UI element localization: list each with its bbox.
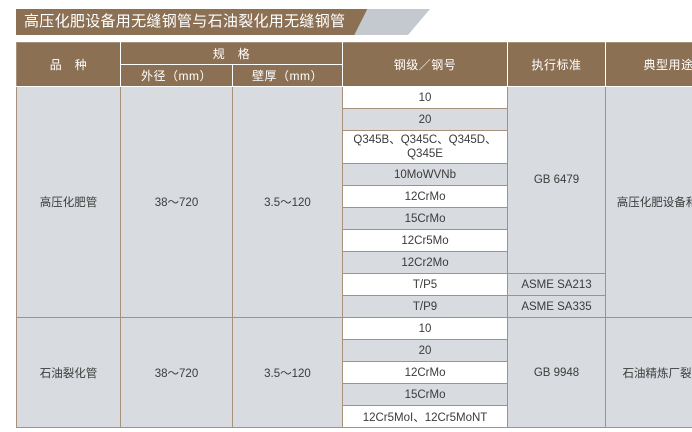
page-title: 高压化肥设备用无缝钢管与石油裂化用无缝钢管: [16, 9, 367, 35]
cell-grade: 10: [343, 318, 508, 340]
cell-grade: 15CrMo: [343, 384, 508, 406]
column-header-usage: 典型用途: [606, 43, 692, 87]
cell-standard: GB 6479: [508, 87, 606, 274]
cell-outer-diameter: 38～720: [121, 87, 233, 318]
column-header-grade: 钢级／钢号: [343, 43, 508, 87]
specification-table: 品 种 规 格 钢级／钢号 执行标准 典型用途 外径（mm） 壁厚（mm） 高压…: [16, 42, 692, 428]
table-header-row-primary: 品 种 规 格 钢级／钢号 执行标准 典型用途: [17, 43, 692, 65]
cell-grade: 12Cr5Mo: [343, 230, 508, 252]
cell-usage: 高压化肥设备和管道: [606, 87, 692, 318]
cell-wall-thickness: 3.5～120: [233, 87, 343, 318]
spec-table-page: 高压化肥设备用无缝钢管与石油裂化用无缝钢管 品 种 规 格 钢级／钢号 执行标准…: [0, 0, 692, 432]
cell-standard: GB 9948: [508, 318, 606, 428]
cell-kind: 石油裂化管: [17, 318, 121, 428]
cell-standard: ASME SA335: [508, 296, 606, 318]
cell-grade: 12CrMo: [343, 362, 508, 384]
column-header-kind: 品 种: [17, 43, 121, 87]
cell-grade: 20: [343, 109, 508, 131]
cell-grade: 12Cr2Mo: [343, 252, 508, 274]
column-header-outer-diameter: 外径（mm）: [121, 65, 233, 87]
cell-kind: 高压化肥管: [17, 87, 121, 318]
table-row: 高压化肥管38～7203.5～12010GB 6479高压化肥设备和管道: [17, 87, 692, 109]
cell-grade: 15CrMo: [343, 208, 508, 230]
cell-grade: T/P9: [343, 296, 508, 318]
column-header-standard: 执行标准: [508, 43, 606, 87]
cell-grade: 12CrMo: [343, 186, 508, 208]
table-row: 石油裂化管38～7203.5～12010GB 9948石油精炼厂裂化炉: [17, 318, 692, 340]
cell-wall-thickness: 3.5～120: [233, 318, 343, 428]
cell-usage: 石油精炼厂裂化炉: [606, 318, 692, 428]
cell-grade: T/P5: [343, 274, 508, 296]
cell-outer-diameter: 38～720: [121, 318, 233, 428]
page-title-banner: 高压化肥设备用无缝钢管与石油裂化用无缝钢管: [16, 9, 367, 35]
table-body: 高压化肥管38～7203.5～12010GB 6479高压化肥设备和管道20Q3…: [17, 87, 692, 428]
cell-grade: 10: [343, 87, 508, 109]
cell-grade: 12Cr5MoI、12Cr5MoNT: [343, 406, 508, 428]
cell-grade: 10MoWVNb: [343, 164, 508, 186]
cell-grade: Q345B、Q345C、Q345D、Q345E: [343, 131, 508, 164]
column-header-wall-thickness: 壁厚（mm）: [233, 65, 343, 87]
cell-grade: 20: [343, 340, 508, 362]
column-header-spec-group: 规 格: [121, 43, 343, 65]
cell-standard: ASME SA213: [508, 274, 606, 296]
